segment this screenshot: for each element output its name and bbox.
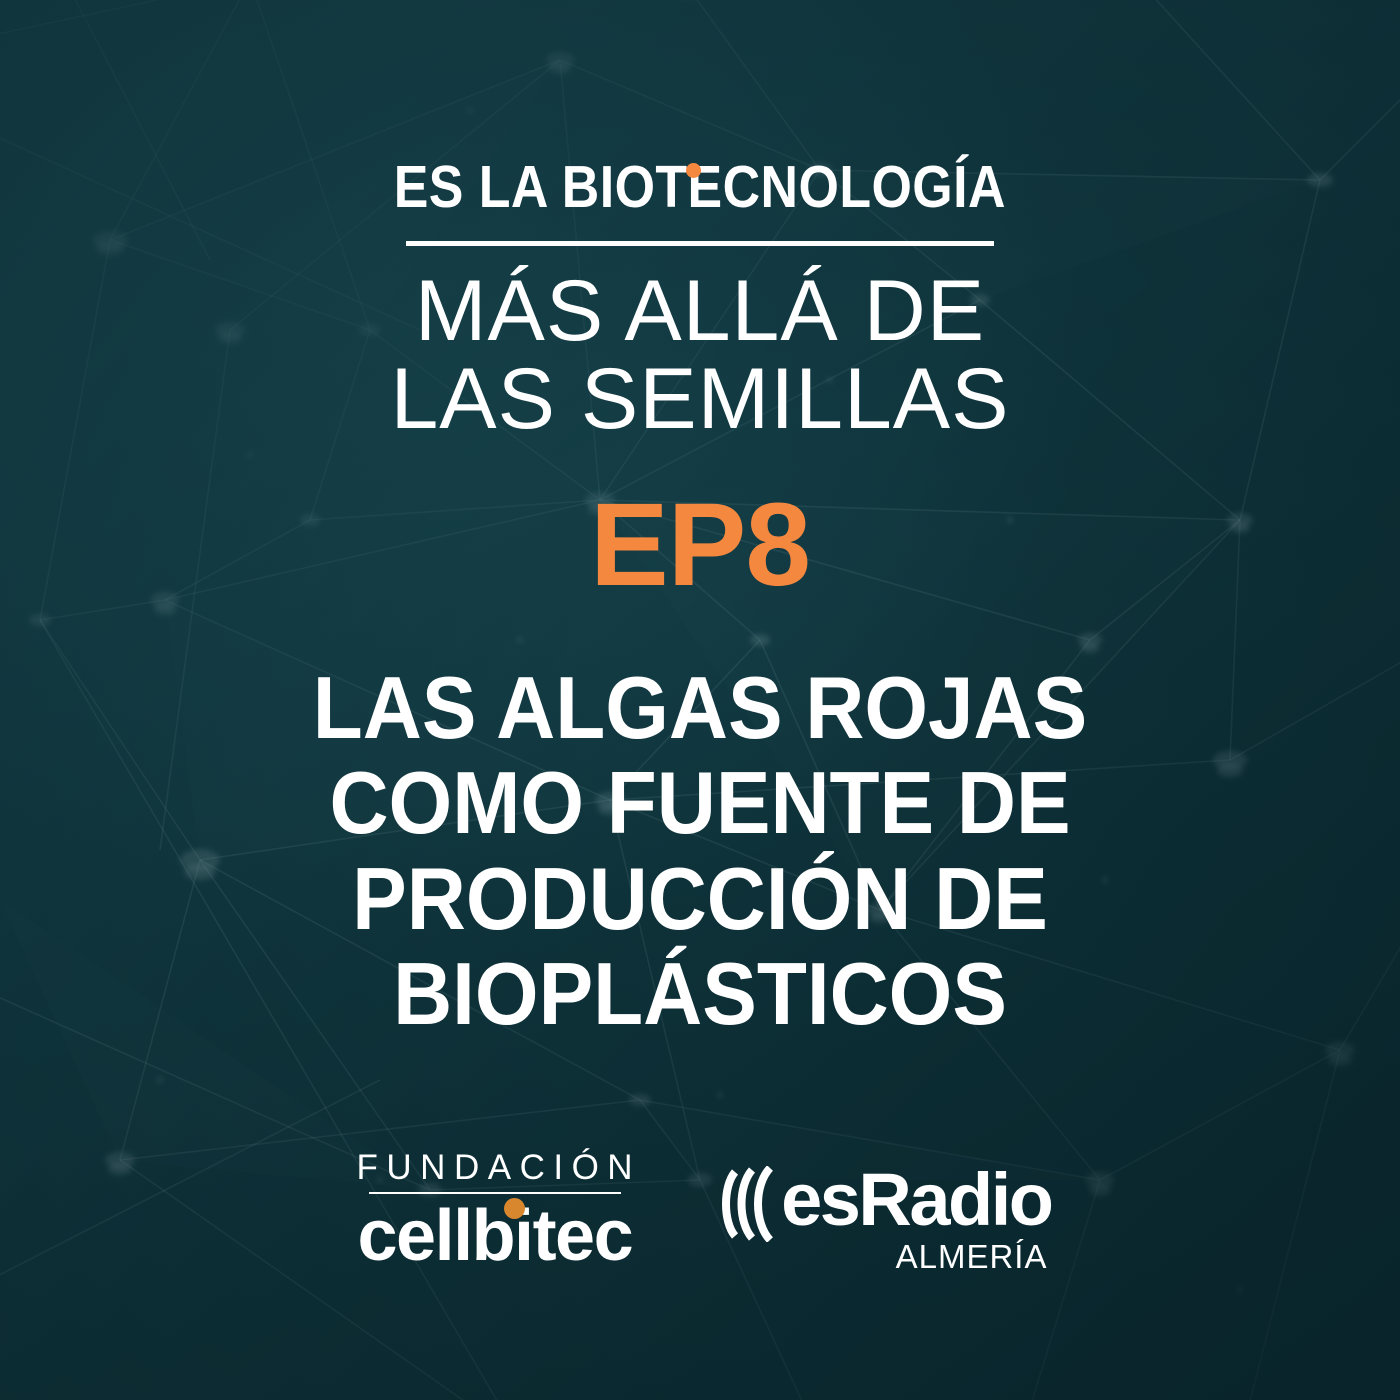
esradio-city-label: ALMERÍA <box>896 1240 1052 1273</box>
episode-title-block: LAS ALGAS ROJAS COMO FUENTE DE PRODUCCIÓ… <box>0 660 1400 1042</box>
episode-title-line-1: LAS ALGAS ROJAS <box>49 660 1351 755</box>
subtitle-line-2: LAS SEMILLAS <box>0 356 1400 444</box>
kicker-divider <box>406 241 994 246</box>
subtitle-block: MÁS ALLÁ DE LAS SEMILLAS <box>0 268 1400 443</box>
radio-waves-icon <box>719 1166 777 1242</box>
episode-title-line-3: PRODUCCIÓN DE <box>49 851 1351 946</box>
subtitle-line-1: MÁS ALLÁ DE <box>0 268 1400 356</box>
cellbitec-wordmark-text: cellbitec <box>357 1196 632 1276</box>
fundacion-label: FUNDACIÓN <box>349 1150 642 1185</box>
esradio-wordmark: esRadio <box>781 1166 1051 1234</box>
orange-dot-icon <box>504 1198 525 1219</box>
esradio-almeria-logo: esRadio ALMERÍA <box>719 1148 1051 1273</box>
episode-block: EP8 <box>0 486 1400 604</box>
episode-number-badge: EP8 <box>590 486 810 604</box>
kicker-block: ES LA BIOTECNOLOGÍA <box>0 158 1400 246</box>
logo-row: FUNDACIÓN cellbitec esRadio A <box>0 1148 1400 1273</box>
fundacion-underline <box>369 1192 621 1194</box>
orange-dot-icon <box>686 163 701 178</box>
cellbitec-wordmark: cellbitec <box>357 1200 632 1272</box>
episode-title-line-2: COMO FUENTE DE <box>49 755 1351 850</box>
podcast-episode-cover: ES LA BIOTECNOLOGÍA MÁS ALLÁ DE LAS SEMI… <box>0 0 1400 1400</box>
esradio-text-block: esRadio ALMERÍA <box>781 1166 1051 1273</box>
poster-content: ES LA BIOTECNOLOGÍA MÁS ALLÁ DE LAS SEMI… <box>0 0 1400 1400</box>
episode-title-line-4: BIOPLÁSTICOS <box>49 946 1351 1041</box>
fundacion-cellbitec-logo: FUNDACIÓN cellbitec <box>349 1148 642 1272</box>
